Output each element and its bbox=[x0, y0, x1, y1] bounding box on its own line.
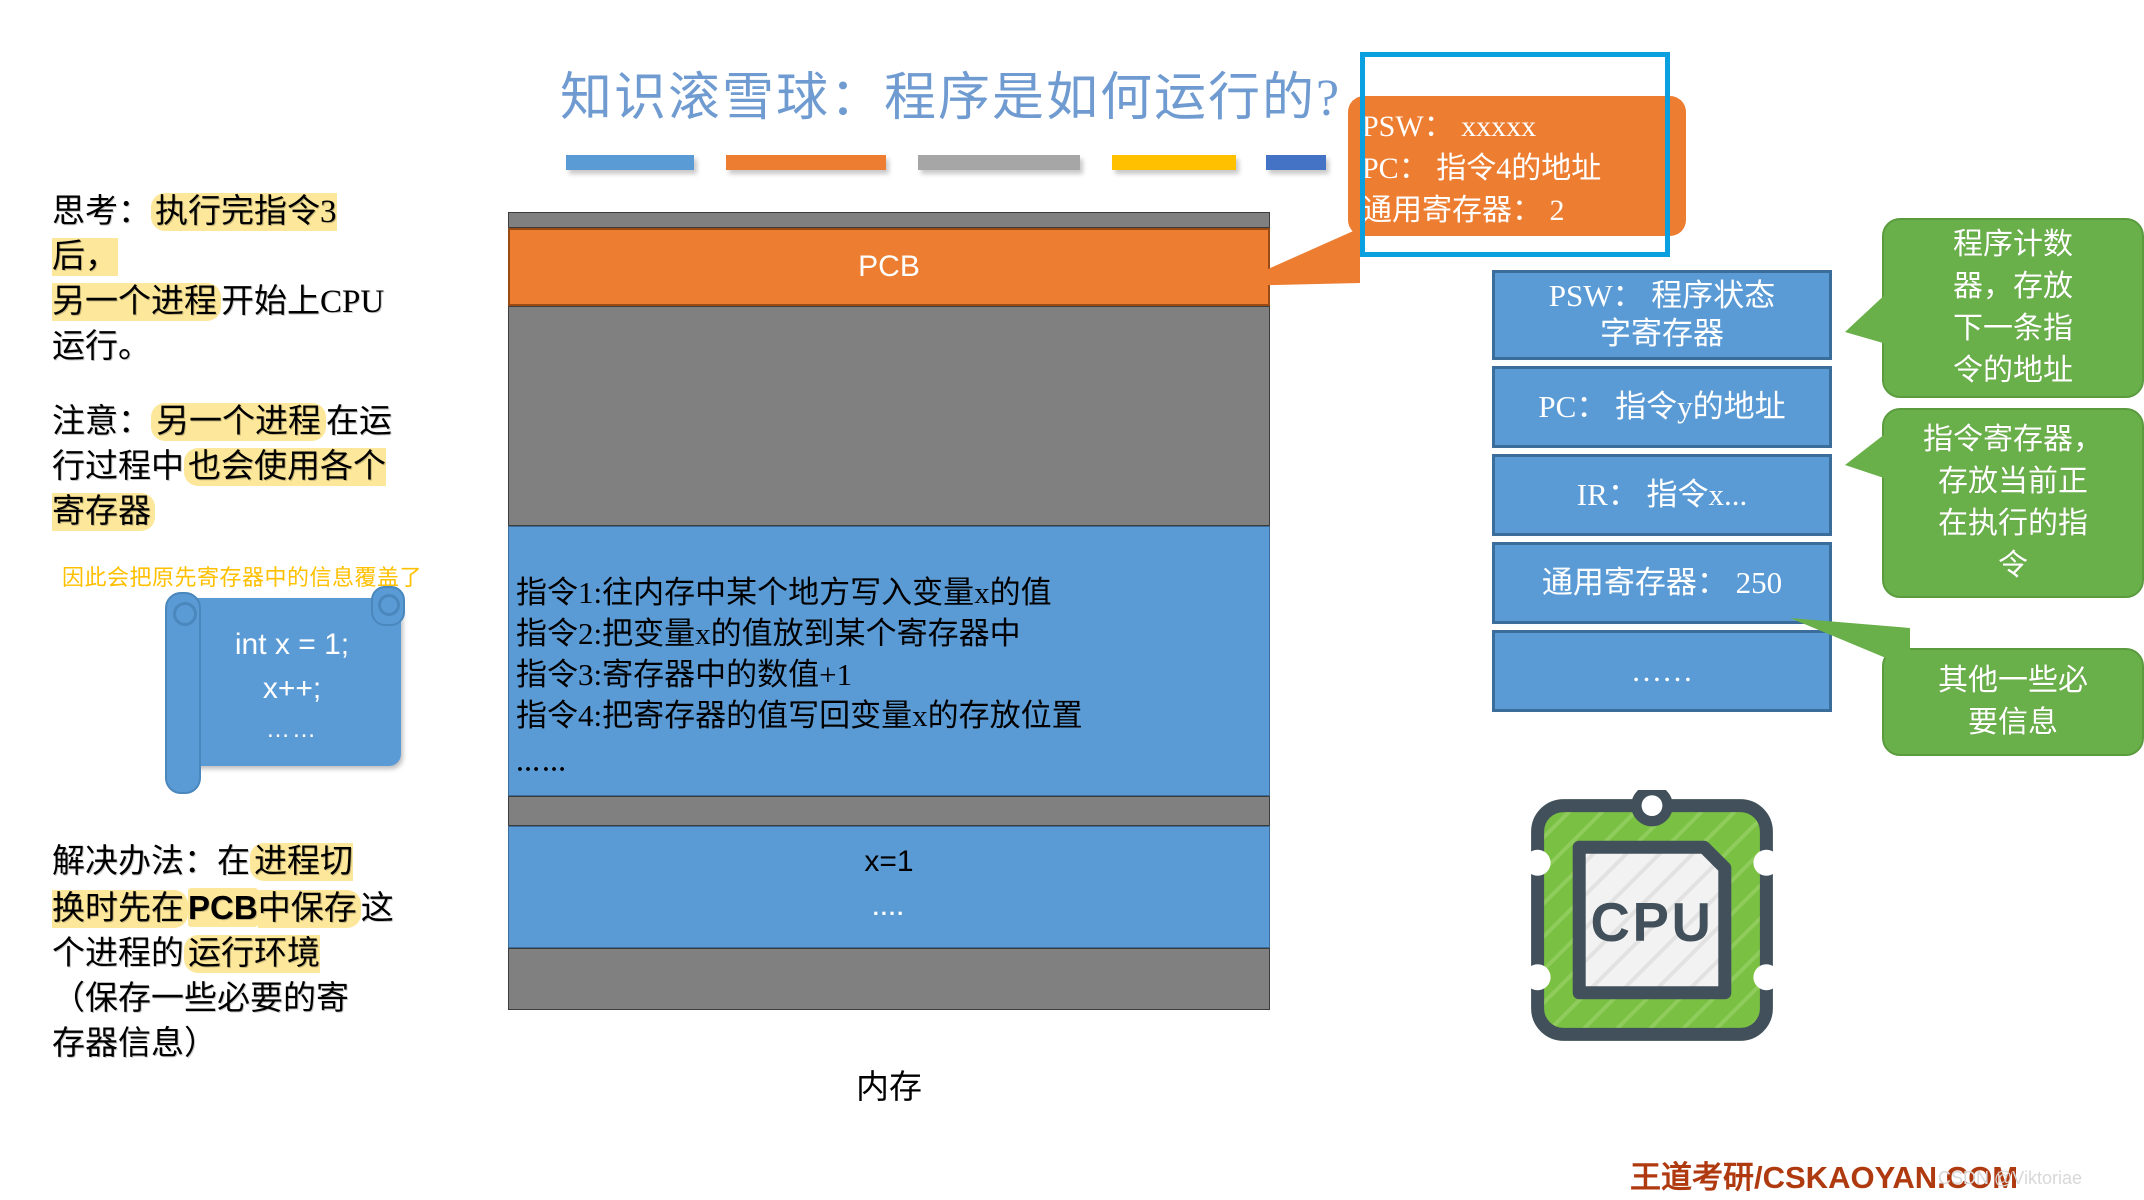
code-line-2: x++; bbox=[183, 672, 401, 706]
green-callout-text-other-note: 其他一些必要信息 bbox=[1938, 660, 2088, 744]
notice-tail-1: 在运 bbox=[326, 404, 392, 440]
register-label-psw: PSW： 程序状态字寄存器 bbox=[1549, 277, 1776, 353]
notice-prefix: 注意： bbox=[52, 404, 151, 440]
accent-bar-group bbox=[566, 155, 1326, 171]
thinking-hl-2: 另一个进程 bbox=[52, 283, 221, 321]
page-title: 知识滚雪球：程序是如何运行的? bbox=[560, 55, 1460, 130]
solution-line3-plain: 个进程的 bbox=[52, 936, 184, 972]
code-line-3: …… bbox=[183, 716, 401, 744]
register-stack: PSW： 程序状态字寄存器PC： 指令y的地址IR： 指令x...通用寄存器： … bbox=[1492, 270, 1832, 718]
left-paragraph-thinking: 思考：执行完指令3后， 另一个进程开始上CPU 运行。 bbox=[52, 190, 392, 370]
accent-bar-3 bbox=[1112, 155, 1236, 170]
solution-hl-2: 换时先在 bbox=[52, 890, 188, 928]
green-callout-text-ir-note: 指令寄存器，存放当前正在执行的指令 bbox=[1923, 419, 2103, 587]
instruction-line-1: 指令1:往内存中某个地方写入变量x的值 bbox=[516, 572, 1276, 613]
left-paragraph-notice: 注意：另一个进程在运 行过程中也会使用各个 寄存器 bbox=[52, 400, 397, 535]
solution-plain-1: 在 bbox=[217, 844, 250, 880]
memory-data-more: .... bbox=[509, 895, 1269, 921]
accent-bar-1 bbox=[726, 155, 886, 170]
memory-segment-gap-gray bbox=[508, 796, 1270, 826]
register-label-ir: IR： 指令x... bbox=[1577, 476, 1748, 514]
register-label-ellipsis: …… bbox=[1631, 652, 1693, 690]
psw-callout-tail bbox=[1230, 228, 1360, 288]
register-label-pc: PC： 指令y的地址 bbox=[1538, 388, 1785, 426]
register-box-psw: PSW： 程序状态字寄存器 bbox=[1492, 270, 1832, 360]
green-tail-ir bbox=[1845, 430, 1890, 490]
accent-bar-4 bbox=[1266, 155, 1326, 170]
green-callout-text-pc-note: 程序计数器，存放下一条指令的地址 bbox=[1953, 224, 2073, 392]
instruction-line-3: 指令3:寄存器中的数值+1 bbox=[516, 654, 1276, 695]
memory-caption: 内存 bbox=[508, 1060, 1270, 1108]
green-tail-pc bbox=[1845, 290, 1890, 350]
accent-bar-0 bbox=[566, 155, 694, 170]
instruction-more: …… bbox=[516, 744, 1276, 785]
solution-line-5: 存器信息） bbox=[52, 1026, 217, 1062]
instruction-list: 指令1:往内存中某个地方写入变量x的值指令2:把变量x的值放到某个寄存器中指令3… bbox=[516, 572, 1276, 785]
register-box-gpr: 通用寄存器： 250 bbox=[1492, 542, 1832, 624]
register-label-gpr: 通用寄存器： 250 bbox=[1542, 564, 1782, 602]
memory-data-value: x=1 bbox=[509, 845, 1269, 879]
thinking-line-3: 运行。 bbox=[52, 329, 151, 365]
instruction-line-4: 指令4:把寄存器的值写回变量x的存放位置 bbox=[516, 695, 1276, 736]
memory-segment-gray-body bbox=[508, 306, 1270, 526]
memory-segment-bottom-gray bbox=[508, 948, 1270, 1010]
cpu-icon: CPU bbox=[1522, 790, 1782, 1050]
solution-hl-1: 进程切 bbox=[250, 843, 353, 881]
cpu-icon-label: CPU bbox=[1590, 892, 1713, 953]
solution-line-4: （保存一些必要的寄 bbox=[52, 981, 349, 1017]
code-line-1: int x = 1; bbox=[183, 628, 401, 662]
memory-segment-pcb: PCB bbox=[508, 228, 1270, 306]
scroll-roll-right bbox=[371, 586, 405, 626]
solution-line3-hl: 运行环境 bbox=[184, 935, 320, 973]
thinking-tail-2: 开始上CPU bbox=[221, 284, 384, 320]
green-callout-other-note: 其他一些必要信息 bbox=[1882, 648, 2144, 756]
solution-hl-pcb: PCB bbox=[188, 888, 258, 927]
accent-bar-2 bbox=[918, 155, 1080, 170]
register-box-ellipsis: …… bbox=[1492, 630, 1832, 712]
notice-line3-hl: 寄存器 bbox=[52, 493, 155, 531]
notice-line2-hl: 也会使用各个 bbox=[184, 448, 386, 486]
highlight-frame bbox=[1360, 52, 1670, 257]
memory-segment-top-gray bbox=[508, 212, 1270, 228]
solution-plain-2: 中保存 bbox=[258, 890, 361, 928]
solution-plain-3: 这 bbox=[361, 891, 394, 927]
pcb-label: PCB bbox=[858, 250, 920, 284]
memory-segment-data-blue: x=1.... bbox=[508, 826, 1270, 948]
left-paragraph-solution: 解决办法：在进程切 换时先在PCB中保存这 个进程的运行环境 （保存一些必要的寄… bbox=[52, 840, 402, 1067]
instruction-line-2: 指令2:把变量x的值放到某个寄存器中 bbox=[516, 613, 1276, 654]
notice-line2-plain: 行过程中 bbox=[52, 449, 184, 485]
green-callout-ir-note: 指令寄存器，存放当前正在执行的指令 bbox=[1882, 408, 2144, 598]
green-callout-pc-note: 程序计数器，存放下一条指令的地址 bbox=[1882, 218, 2144, 398]
thinking-prefix: 思考： bbox=[52, 194, 151, 230]
solution-prefix: 解决办法： bbox=[52, 844, 217, 880]
code-scroll-graphic: int x = 1; x++; …… bbox=[155, 588, 415, 793]
green-tail-other bbox=[1790, 610, 1910, 670]
register-box-ir: IR： 指令x... bbox=[1492, 454, 1832, 536]
watermark: CSDN @Viktoriae bbox=[1938, 1168, 2082, 1189]
register-box-pc: PC： 指令y的地址 bbox=[1492, 366, 1832, 448]
notice-hl-1: 另一个进程 bbox=[151, 403, 326, 441]
